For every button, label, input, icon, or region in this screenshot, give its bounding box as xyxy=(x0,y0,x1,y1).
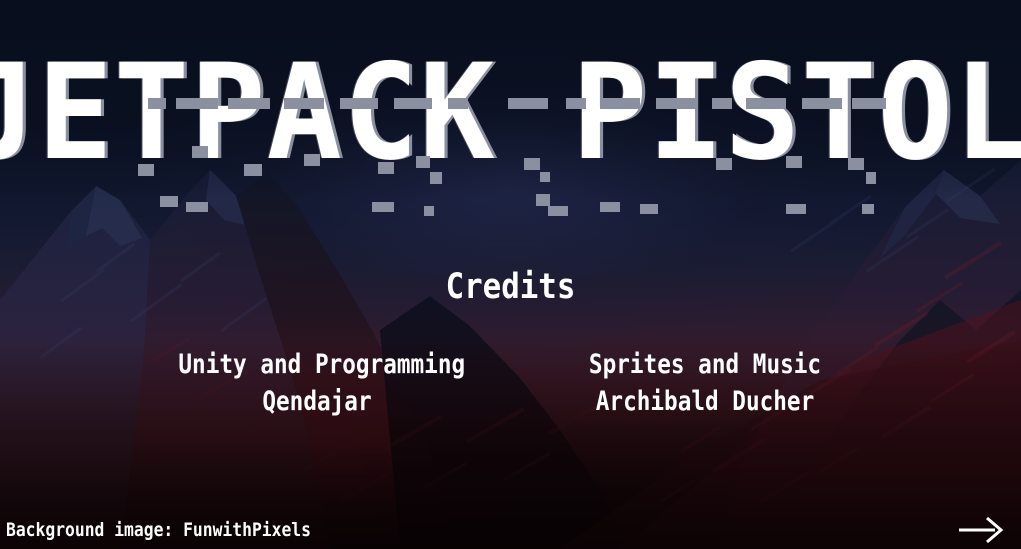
credit-person-name: Archibald Ducher xyxy=(566,382,843,422)
credits-columns: Unity and Programming Qendajar Sprites a… xyxy=(0,348,1021,422)
credit-role-label: Unity and Programming xyxy=(178,348,455,382)
credit-column-programming: Unity and Programming Qendajar xyxy=(152,348,482,422)
credit-role-label: Sprites and Music xyxy=(566,348,843,382)
credits-heading: Credits xyxy=(61,268,959,306)
credit-person-name: Qendajar xyxy=(178,382,455,422)
background-image-credit: Background image: FunwithPixels xyxy=(6,519,311,541)
top-shade-overlay xyxy=(0,0,1021,200)
arrow-right-icon[interactable] xyxy=(957,515,1009,545)
credit-column-art-music: Sprites and Music Archibald Ducher xyxy=(540,348,870,422)
game-credits-screen: JETPACK PISTOLATOR xyxy=(0,0,1021,549)
